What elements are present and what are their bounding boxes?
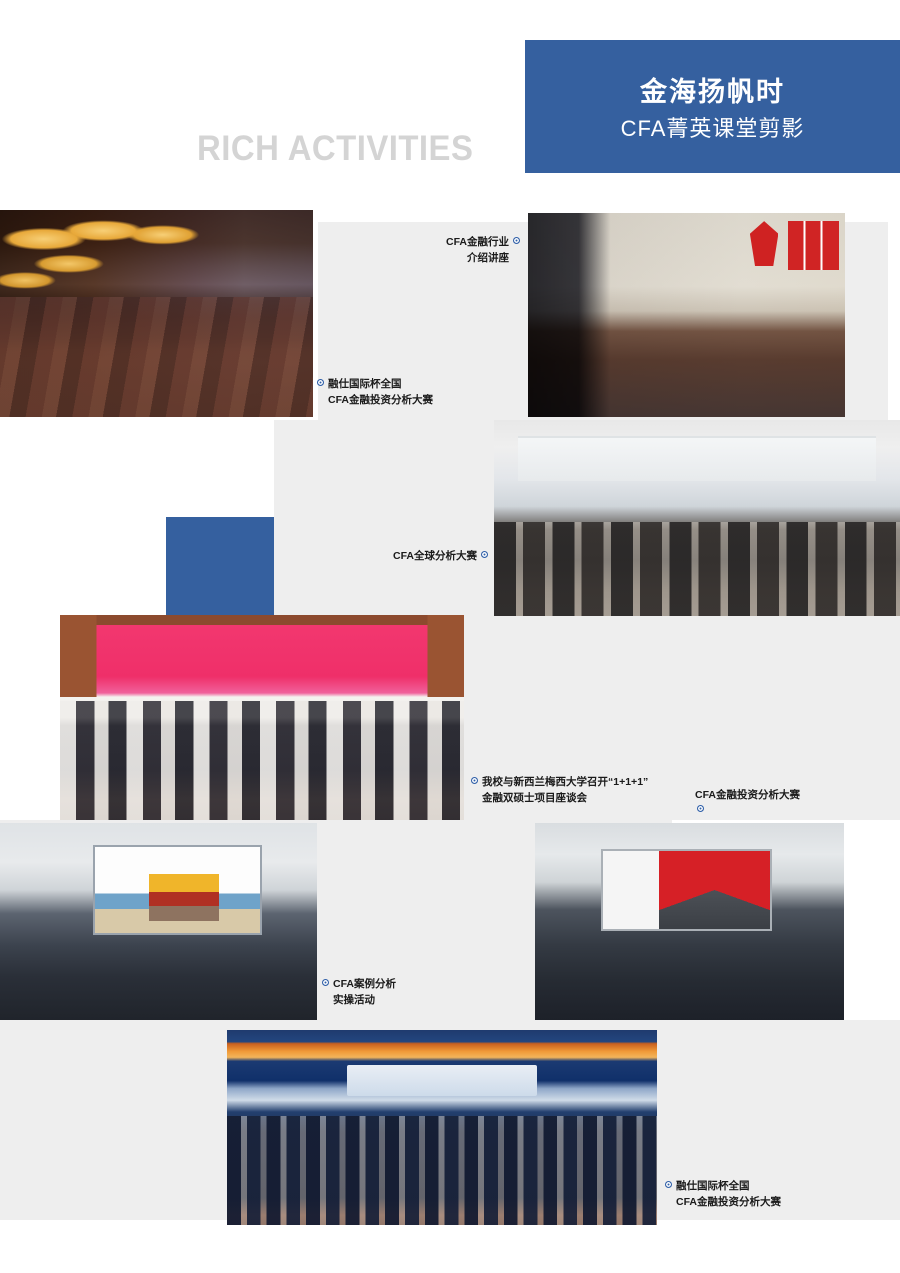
photo-massey-delegation-image bbox=[60, 615, 464, 820]
bullet-marker-icon bbox=[481, 551, 488, 558]
caption-line: 融仕国际杯全国 bbox=[317, 376, 433, 392]
poster-page: RICH ACTIVITIES 金海扬帆时 CFA菁英课堂剪影 CFA金融行业 … bbox=[0, 0, 900, 1273]
header-subtitle: CFA菁英课堂剪影 bbox=[621, 112, 805, 145]
bullet-marker-icon bbox=[665, 1181, 672, 1188]
bullet-marker-icon bbox=[513, 237, 520, 244]
photo-2023-group-image bbox=[227, 1030, 657, 1225]
photo-ballroom-seminar bbox=[0, 210, 313, 417]
bullet-marker-icon bbox=[697, 805, 704, 812]
photo-2023-group bbox=[227, 1030, 657, 1225]
caption-line: 金融双硕士项目座谈会 bbox=[471, 790, 648, 806]
photo-classroom-red-banner bbox=[528, 213, 845, 417]
photo-award-group-image bbox=[494, 420, 900, 616]
caption-line: CFA金融投资分析大赛 bbox=[695, 787, 800, 803]
photo-seminar-red-slide-image bbox=[535, 823, 844, 1020]
caption-rongshi-cup-bottom: 融仕国际杯全国 CFA金融投资分析大赛 bbox=[665, 1178, 781, 1211]
header-banner: 金海扬帆时 CFA菁英课堂剪影 bbox=[525, 40, 900, 173]
photo-classroom-red-banner-image bbox=[528, 213, 845, 417]
caption-text: CFA案例分析 bbox=[333, 978, 396, 990]
photo-lecture-hall-image bbox=[0, 823, 317, 1020]
caption-line: 实操活动 bbox=[322, 992, 396, 1008]
caption-line: 融仕国际杯全国 bbox=[665, 1178, 781, 1194]
photo-massey-delegation bbox=[60, 615, 464, 820]
caption-line: CFA金融投资分析大赛 bbox=[665, 1194, 781, 1210]
caption-rongshi-cup-top: 融仕国际杯全国 CFA金融投资分析大赛 bbox=[317, 376, 433, 409]
caption-line: CFA全球分析大赛 bbox=[360, 548, 488, 564]
caption-text: 融仕国际杯全国 bbox=[676, 1180, 750, 1192]
caption-text: 融仕国际杯全国 bbox=[328, 378, 402, 390]
header-title: 金海扬帆时 bbox=[640, 74, 785, 110]
bullet-marker-icon bbox=[471, 777, 478, 784]
caption-cfa-investment-analysis: CFA金融投资分析大赛 bbox=[695, 787, 800, 803]
caption-massey-double-master: 我校与新西兰梅西大学召开“1+1+1” 金融双硕士项目座谈会 bbox=[471, 774, 648, 807]
photo-award-group bbox=[494, 420, 900, 616]
caption-text: 我校与新西兰梅西大学召开“1+1+1” bbox=[482, 776, 648, 788]
page-title-rich-activities: RICH ACTIVITIES bbox=[197, 129, 473, 169]
caption-cfa-global-analysis: CFA全球分析大赛 bbox=[360, 548, 488, 564]
caption-line: CFA案例分析 bbox=[322, 976, 396, 992]
accent-square-blue bbox=[166, 517, 274, 616]
caption-line: CFA金融投资分析大赛 bbox=[317, 392, 433, 408]
caption-line: 我校与新西兰梅西大学召开“1+1+1” bbox=[471, 774, 648, 790]
caption-cfa-industry-lecture: CFA金融行业 介绍讲座 bbox=[380, 234, 520, 267]
caption-line: CFA金融行业 bbox=[380, 234, 520, 250]
bullet-marker-icon bbox=[322, 979, 329, 986]
caption-text: CFA全球分析大赛 bbox=[393, 550, 477, 562]
caption-text: CFA金融行业 bbox=[446, 236, 509, 248]
bullet-marker-icon bbox=[317, 379, 324, 386]
caption-line: 介绍讲座 bbox=[380, 250, 520, 266]
caption-cfa-case-analysis: CFA案例分析 实操活动 bbox=[322, 976, 396, 1009]
photo-lecture-hall bbox=[0, 823, 317, 1020]
photo-seminar-red-slide bbox=[535, 823, 844, 1020]
photo-ballroom-seminar-image bbox=[0, 210, 313, 417]
